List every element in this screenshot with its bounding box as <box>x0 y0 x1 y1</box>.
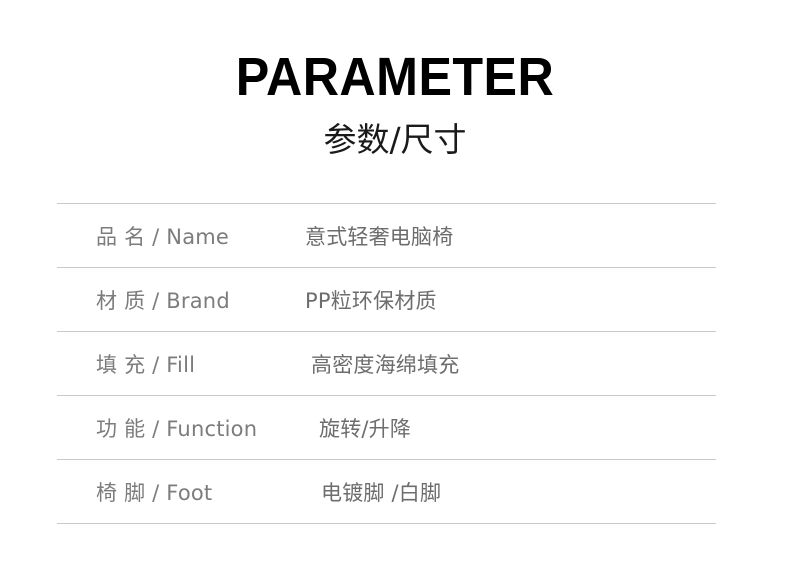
page-title: PARAMETER <box>28 48 763 106</box>
parameter-spec-page: PARAMETER 参数/尺寸 品 名 / Name 意式轻奢电脑椅 材 质 /… <box>0 0 790 568</box>
spec-label: 功 能 / Function <box>57 413 305 443</box>
spec-value: PP粒环保材质 <box>305 285 716 315</box>
table-row: 材 质 / Brand PP粒环保材质 <box>57 268 716 331</box>
table-row: 品 名 / Name 意式轻奢电脑椅 <box>57 204 716 267</box>
spec-table: 品 名 / Name 意式轻奢电脑椅 材 质 / Brand PP粒环保材质 填… <box>57 203 716 524</box>
page-header: PARAMETER 参数/尺寸 <box>0 48 790 160</box>
spec-label: 填 充 / Fill <box>57 349 305 379</box>
spec-label: 品 名 / Name <box>57 221 305 251</box>
table-row: 填 充 / Fill 高密度海绵填充 <box>57 332 716 395</box>
spec-label: 椅 脚 / Foot <box>57 477 305 507</box>
spec-label: 材 质 / Brand <box>57 285 305 315</box>
page-subtitle: 参数/尺寸 <box>0 106 790 160</box>
spec-value: 高密度海绵填充 <box>305 349 716 379</box>
spec-value: 意式轻奢电脑椅 <box>305 221 716 251</box>
table-divider <box>57 523 716 524</box>
table-row: 椅 脚 / Foot 电镀脚 /白脚 <box>57 460 716 523</box>
spec-value: 旋转/升降 <box>305 413 716 443</box>
spec-value: 电镀脚 /白脚 <box>305 477 716 507</box>
table-row: 功 能 / Function 旋转/升降 <box>57 396 716 459</box>
